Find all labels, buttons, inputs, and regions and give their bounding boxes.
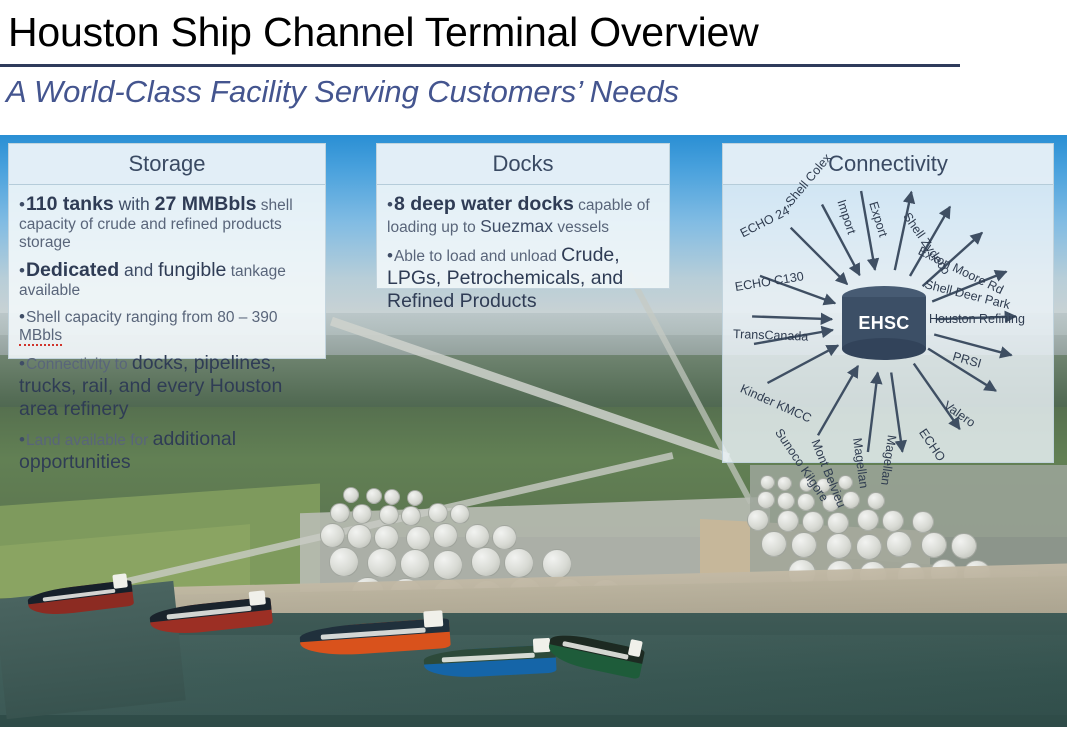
- storage-tank: [433, 550, 463, 580]
- connectivity-arrow-inbound: [768, 345, 839, 383]
- page-title: Houston Ship Channel Terminal Overview: [8, 4, 958, 60]
- hub-ehsc: EHSC: [842, 286, 926, 356]
- panel-docks-heading: Docks: [377, 144, 669, 185]
- connectivity-arrow-inbound: [752, 316, 832, 319]
- title-divider: [0, 64, 960, 67]
- storage-bullet-text: and: [119, 260, 158, 280]
- storage-tank: [401, 506, 421, 526]
- storage-bullet-text: fungible: [158, 259, 226, 281]
- bullet-marker: •: [19, 195, 25, 214]
- bullet-marker: •: [19, 354, 25, 373]
- storage-bullet-text: 110 tanks: [26, 193, 114, 215]
- storage-tank: [367, 548, 397, 578]
- storage-tank: [797, 493, 815, 511]
- bullet-marker: •: [19, 430, 25, 449]
- docks-bullet-text: 8 deep water docks: [394, 193, 574, 215]
- storage-tank: [465, 524, 490, 549]
- storage-tank: [542, 549, 572, 579]
- docks-bullet-text: Able to load and unload: [394, 248, 561, 265]
- panel-docks-body: •8 deep water docks capable of loading u…: [377, 185, 669, 326]
- storage-tank: [433, 523, 458, 548]
- storage-tank: [856, 534, 882, 560]
- storage-tank: [374, 525, 399, 550]
- storage-tank: [428, 503, 448, 523]
- storage-tank: [882, 510, 904, 532]
- storage-tank: [857, 509, 879, 531]
- storage-tank: [450, 504, 470, 524]
- panel-docks: Docks •8 deep water docks capable of loa…: [376, 143, 670, 289]
- storage-tank: [379, 505, 399, 525]
- hub-label: EHSC: [842, 308, 926, 338]
- storage-bullet-text: Shell capacity ranging from 80 – 390: [26, 309, 278, 326]
- panel-storage: Storage •110 tanks with 27 MMBbls shell …: [8, 143, 326, 359]
- storage-bullet: •Land available for additional opportuni…: [19, 428, 315, 474]
- vessel-superstructure: [249, 590, 266, 606]
- storage-tank: [366, 488, 382, 504]
- storage-tank: [330, 503, 350, 523]
- storage-tank: [407, 490, 423, 506]
- storage-bullet-text: Dedicated: [26, 259, 119, 281]
- storage-tank: [886, 531, 912, 557]
- storage-tank: [827, 512, 849, 534]
- connectivity-arrow-inbound: [868, 373, 878, 452]
- storage-tank: [867, 492, 885, 510]
- storage-tank: [320, 523, 345, 548]
- connectivity-diagram: ECHO 24"ECHO C130TransCanadaKinder KMCCS…: [723, 185, 1055, 464]
- panel-storage-body: •110 tanks with 27 MMBbls shell capacity…: [9, 185, 325, 487]
- storage-bullet: •Connectivity to docks, pipelines, truck…: [19, 352, 315, 421]
- storage-tank: [760, 475, 775, 490]
- docks-bullet: •Able to load and unload Crude, LPGs, Pe…: [387, 244, 659, 313]
- page-subtitle: A World-Class Facility Serving Customers…: [6, 70, 956, 114]
- bullet-marker: •: [19, 307, 25, 326]
- storage-tank: [471, 547, 501, 577]
- slide: Houston Ship Channel Terminal Overview A…: [0, 0, 1067, 740]
- storage-tank: [777, 492, 795, 510]
- storage-tank: [791, 532, 817, 558]
- storage-bullet-text: Connectivity to: [26, 356, 132, 373]
- slide-bottom-strip: [0, 727, 1067, 740]
- storage-tank: [352, 504, 372, 524]
- storage-tank: [747, 509, 769, 531]
- docks-bullet: •8 deep water docks capable of loading u…: [387, 193, 659, 237]
- storage-bullet-text: MBbls: [19, 327, 62, 346]
- panel-connectivity: Connectivity ECHO 24"ECHO C130TransCanad…: [722, 143, 1054, 463]
- storage-bullet: •110 tanks with 27 MMBbls shell capacity…: [19, 193, 315, 252]
- storage-tank: [384, 489, 400, 505]
- vessel-superstructure: [532, 638, 550, 653]
- storage-tank: [951, 533, 977, 559]
- storage-tank: [406, 526, 431, 551]
- storage-bullet: •Shell capacity ranging from 80 – 390 MB…: [19, 307, 315, 345]
- connectivity-node-label: Houston Refining: [929, 312, 1025, 326]
- storage-tank: [400, 549, 430, 579]
- panel-connectivity-heading: Connectivity: [723, 144, 1053, 185]
- docks-bullet-text: vessels: [553, 219, 609, 236]
- storage-tank: [504, 548, 534, 578]
- panel-storage-heading: Storage: [9, 144, 325, 185]
- hub-cylinder-bottom: [842, 338, 926, 360]
- storage-tank: [761, 531, 787, 557]
- storage-tank: [777, 510, 799, 532]
- storage-bullet: •Dedicated and fungible tankage availabl…: [19, 259, 315, 300]
- storage-tank: [777, 476, 792, 491]
- vessel-superstructure: [423, 610, 444, 627]
- connectivity-arrow-inbound: [818, 366, 858, 435]
- connectivity-arrow-outbound: [934, 335, 1011, 356]
- storage-tank: [347, 524, 372, 549]
- storage-tank: [343, 487, 359, 503]
- storage-bullet-text: 27 MMBbls: [155, 193, 257, 215]
- bullet-marker: •: [19, 261, 25, 280]
- storage-tank: [802, 511, 824, 533]
- connectivity-arrow-outbound: [914, 364, 960, 430]
- connectivity-node-label: TransCanada: [733, 327, 809, 344]
- storage-tank: [492, 525, 517, 550]
- docks-bullet-text: Suezmax: [480, 216, 553, 236]
- storage-bullet-text: Land available for: [26, 432, 153, 449]
- storage-tank: [912, 511, 934, 533]
- storage-tank: [826, 533, 852, 559]
- storage-tank: [757, 491, 775, 509]
- title-block: Houston Ship Channel Terminal Overview A…: [0, 0, 1067, 135]
- storage-tank: [329, 547, 359, 577]
- storage-tank: [921, 532, 947, 558]
- bullet-marker: •: [387, 246, 393, 265]
- vessel-superstructure: [113, 574, 128, 589]
- bullet-marker: •: [387, 195, 393, 214]
- storage-bullet-text: with: [114, 194, 155, 214]
